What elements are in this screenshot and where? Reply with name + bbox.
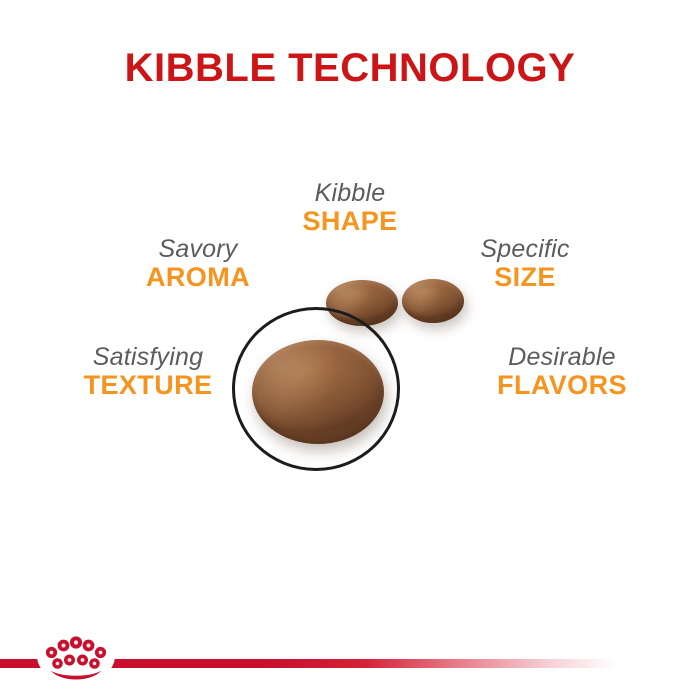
feature-lead-size: Specific bbox=[440, 236, 610, 262]
page-title: KIBBLE TECHNOLOGY bbox=[0, 44, 700, 92]
feature-lead-shape: Kibble bbox=[270, 180, 430, 206]
feature-lead-flavors: Desirable bbox=[462, 344, 662, 370]
page-root: KIBBLE TECHNOLOGY Kibble SHAPE Savory AR… bbox=[0, 0, 700, 700]
feature-label-size: Specific SIZE bbox=[440, 236, 610, 291]
feature-key-shape: SHAPE bbox=[270, 207, 430, 235]
feature-label-aroma: Savory AROMA bbox=[108, 236, 288, 291]
feature-lead-texture: Satisfying bbox=[48, 344, 248, 370]
magnifier-circle-icon bbox=[232, 307, 400, 471]
crown-icon bbox=[41, 628, 111, 684]
kibble-illustration bbox=[210, 262, 490, 492]
feature-key-flavors: FLAVORS bbox=[462, 371, 662, 399]
feature-lead-aroma: Savory bbox=[108, 236, 288, 262]
feature-key-aroma: AROMA bbox=[108, 263, 288, 291]
feature-label-flavors: Desirable FLAVORS bbox=[462, 344, 662, 399]
royal-canin-crown-logo bbox=[41, 628, 111, 684]
feature-key-size: SIZE bbox=[440, 263, 610, 291]
feature-label-shape: Kibble SHAPE bbox=[270, 180, 430, 235]
feature-label-texture: Satisfying TEXTURE bbox=[48, 344, 248, 399]
kibble-piece-small-b bbox=[402, 279, 464, 323]
feature-key-texture: TEXTURE bbox=[48, 371, 248, 399]
